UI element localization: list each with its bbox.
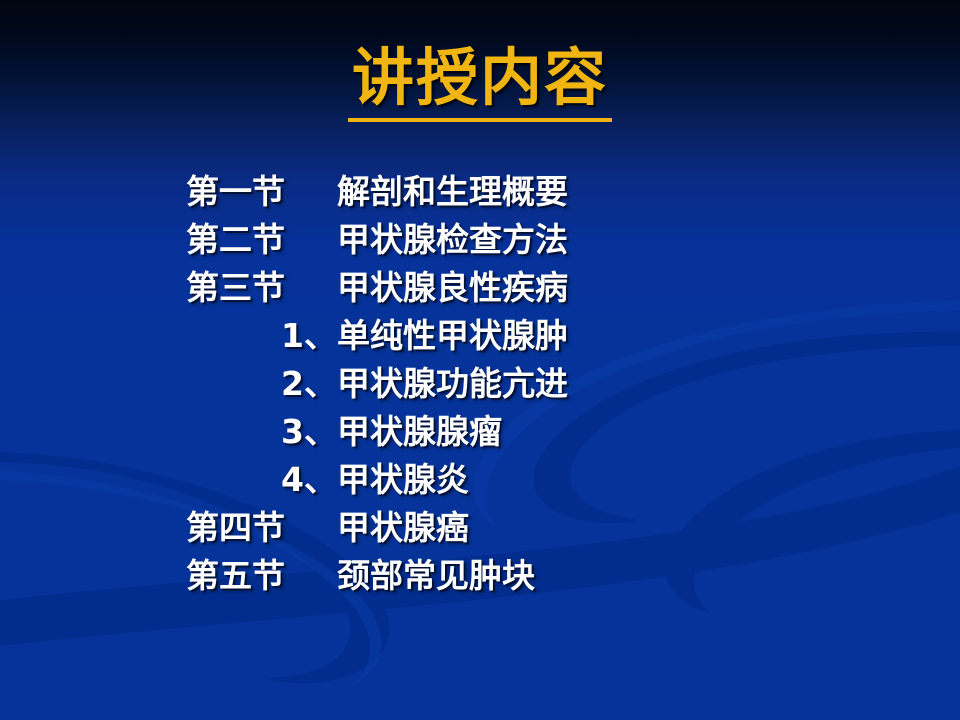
outline-item-label: 甲状腺癌 [337, 504, 469, 552]
outline-item: 第五节颈部常见肿块 [0, 552, 960, 600]
page-title: 讲授内容 [348, 44, 612, 122]
outline-item-label: 单纯性甲状腺肿 [337, 312, 568, 360]
outline-item: 3、甲状腺腺瘤 [0, 408, 960, 456]
outline-item-marker: 第四节 [186, 504, 337, 552]
outline-list: 第一节解剖和生理概要第二节甲状腺检查方法第三节甲状腺良性疾病1、单纯性甲状腺肿2… [0, 168, 960, 600]
outline-item-marker: 第一节 [186, 168, 337, 216]
slide-title-block: 讲授内容 [0, 44, 960, 122]
outline-item-marker: 第三节 [186, 264, 337, 312]
outline-item: 1、单纯性甲状腺肿 [0, 312, 960, 360]
outline-item-marker: 2、 [281, 360, 337, 408]
outline-item: 第一节解剖和生理概要 [0, 168, 960, 216]
outline-item-label: 甲状腺检查方法 [337, 216, 568, 264]
outline-item-marker: 3、 [281, 408, 337, 456]
outline-item: 第二节甲状腺检查方法 [0, 216, 960, 264]
outline-item: 第三节甲状腺良性疾病 [0, 264, 960, 312]
outline-item-label: 颈部常见肿块 [337, 552, 535, 600]
outline-item-label: 解剖和生理概要 [337, 168, 568, 216]
presentation-slide: 讲授内容 第一节解剖和生理概要第二节甲状腺检查方法第三节甲状腺良性疾病1、单纯性… [0, 0, 960, 720]
outline-item-label: 甲状腺腺瘤 [337, 408, 502, 456]
outline-item-label: 甲状腺功能亢进 [337, 360, 568, 408]
outline-item-marker: 第二节 [186, 216, 337, 264]
outline-item-label: 甲状腺炎 [337, 456, 469, 504]
outline-item-marker: 1、 [281, 312, 337, 360]
outline-item: 2、甲状腺功能亢进 [0, 360, 960, 408]
outline-item-label: 甲状腺良性疾病 [337, 264, 568, 312]
outline-item: 第四节甲状腺癌 [0, 504, 960, 552]
outline-item: 4、甲状腺炎 [0, 456, 960, 504]
outline-item-marker: 第五节 [186, 552, 337, 600]
outline-item-marker: 4、 [281, 456, 337, 504]
